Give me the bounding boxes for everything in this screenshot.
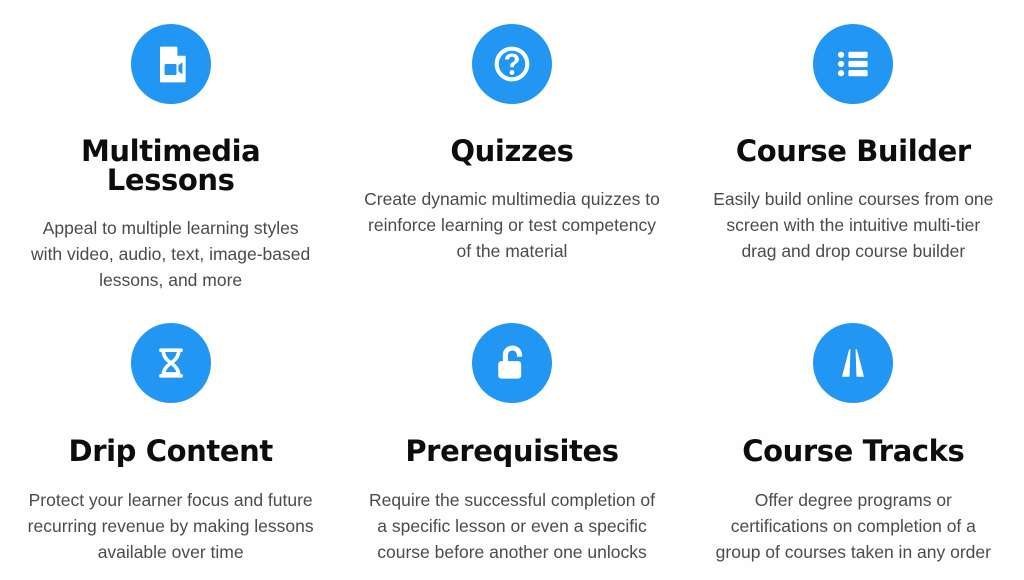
hourglass-icon	[131, 323, 211, 403]
feature-title: Course Builder	[736, 137, 971, 166]
feature-description: Create dynamic multimedia quizzes to rei…	[363, 187, 660, 265]
feature-description: Easily build online courses from one scr…	[707, 187, 999, 265]
question-mark-circle-icon	[472, 24, 552, 104]
feature-card-prerequisites: Prerequisites Require the successful com…	[341, 300, 682, 580]
feature-title: Multimedia Lessons	[71, 137, 271, 195]
feature-card-multimedia-lessons: Multimedia Lessons Appeal to multiple le…	[0, 0, 341, 300]
feature-card-course-builder: Course Builder Easily build online cours…	[683, 0, 1024, 300]
feature-title: Drip Content	[69, 437, 273, 466]
unlocked-padlock-icon	[472, 323, 552, 403]
feature-title: Course Tracks	[742, 437, 964, 466]
video-document-icon	[131, 24, 211, 104]
feature-description: Require the successful completion of a s…	[363, 488, 660, 566]
feature-description: Protect your learner focus and future re…	[26, 488, 316, 566]
bulleted-list-icon	[813, 24, 893, 104]
feature-card-quizzes: Quizzes Create dynamic multimedia quizze…	[341, 0, 682, 300]
road-track-icon	[813, 323, 893, 403]
feature-grid: Multimedia Lessons Appeal to multiple le…	[0, 0, 1024, 580]
feature-description: Appeal to multiple learning styles with …	[26, 216, 316, 294]
feature-title: Prerequisites	[405, 437, 618, 466]
feature-grid-page: Multimedia Lessons Appeal to multiple le…	[0, 0, 1024, 580]
feature-description: Offer degree programs or certifications …	[707, 488, 999, 566]
feature-title: Quizzes	[450, 137, 573, 166]
feature-card-drip-content: Drip Content Protect your learner focus …	[0, 300, 341, 580]
feature-card-course-tracks: Course Tracks Offer degree programs or c…	[683, 300, 1024, 580]
